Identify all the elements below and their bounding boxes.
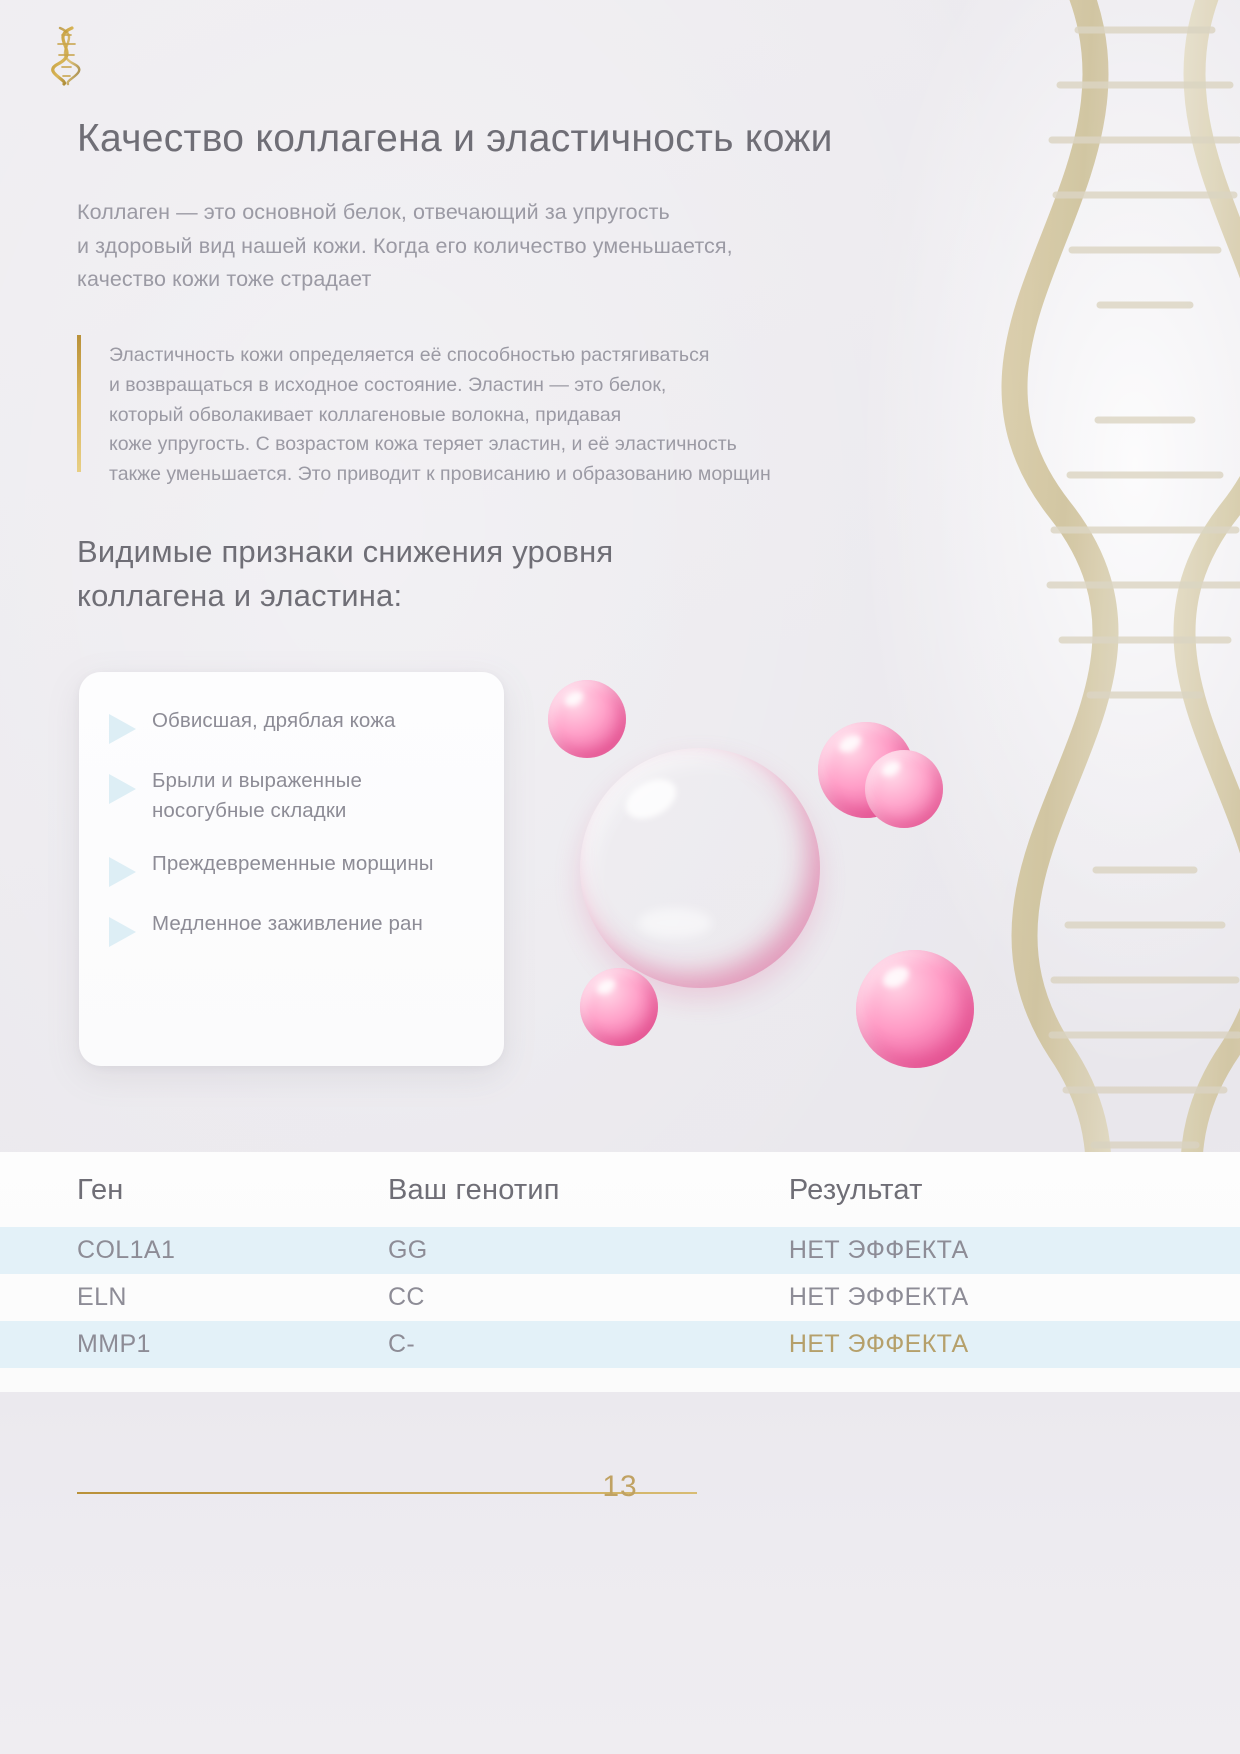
lead-line-3: качество кожи тоже страдает: [77, 267, 371, 291]
signs-card: Обвисшая, дряблая кожа Брыли и выраженны…: [79, 672, 504, 1066]
results-table-body: COL1A1 GG НЕТ ЭФФЕКТА ELN CC НЕТ ЭФФЕКТА…: [0, 1227, 1240, 1368]
list-item-label: Преждевременные морщины: [152, 849, 434, 879]
page-number: 13: [0, 1470, 1240, 1504]
table-row: MMP1 C- НЕТ ЭФФЕКТА: [0, 1321, 1240, 1368]
triangle-bullet-icon: [109, 857, 136, 887]
column-header-genotype: Ваш генотип: [388, 1152, 789, 1227]
cell-genotype: CC: [388, 1274, 789, 1321]
cell-gene: MMP1: [0, 1321, 388, 1368]
cell-genotype: GG: [388, 1227, 789, 1274]
subtitle-line-1: Видимые признаки снижения уровня: [77, 534, 613, 569]
page-title: Качество коллагена и эластичность кожи: [77, 115, 977, 164]
bottom-background: [0, 1392, 1240, 1754]
cell-result: НЕТ ЭФФЕКТА: [789, 1321, 1240, 1368]
results-table-head: Ген Ваш генотип Результат: [0, 1152, 1240, 1227]
column-header-gene: Ген: [0, 1152, 388, 1227]
cell-genotype: C-: [388, 1321, 789, 1368]
triangle-bullet-icon: [109, 774, 136, 804]
table-row: ELN CC НЕТ ЭФФЕКТА: [0, 1274, 1240, 1321]
triangle-bullet-icon: [109, 714, 136, 744]
pink-bubbles-icon: [560, 660, 1030, 1080]
list-item: Брыли и выраженные носогубные складки: [101, 766, 478, 827]
dna-logo-icon: [38, 22, 92, 88]
signs-list: Обвисшая, дряблая кожа Брыли и выраженны…: [79, 672, 504, 947]
report-page: Качество коллагена и эластичность кожи К…: [0, 0, 1240, 1754]
lead-line-2: и здоровый вид нашей кожи. Когда его кол…: [77, 234, 733, 258]
list-item: Медленное заживление ран: [101, 909, 478, 947]
page-footer: 13: [0, 1470, 1240, 1550]
quote-block: Эластичность кожи определяется её способ…: [77, 335, 987, 496]
quote-line-1: Эластичность кожи определяется её способ…: [109, 344, 709, 366]
cell-result: НЕТ ЭФФЕКТА: [789, 1227, 1240, 1274]
results-table: Ген Ваш генотип Результат COL1A1 GG НЕТ …: [0, 1152, 1240, 1368]
quote-accent-rule: [77, 335, 81, 472]
lead-line-1: Коллаген — это основной белок, отвечающи…: [77, 200, 670, 224]
results-table-section: Ген Ваш генотип Результат COL1A1 GG НЕТ …: [0, 1152, 1240, 1392]
list-item-label: Обвисшая, дряблая кожа: [152, 706, 396, 736]
list-item-label: Медленное заживление ран: [152, 909, 423, 939]
cell-result: НЕТ ЭФФЕКТА: [789, 1274, 1240, 1321]
table-row: COL1A1 GG НЕТ ЭФФЕКТА: [0, 1227, 1240, 1274]
quote-line-5: также уменьшается. Это приводит к провис…: [109, 463, 771, 485]
list-item: Преждевременные морщины: [101, 849, 478, 887]
quote-text: Эластичность кожи определяется её способ…: [109, 341, 987, 490]
list-item: Обвисшая, дряблая кожа: [101, 706, 478, 744]
table-header-row: Ген Ваш генотип Результат: [0, 1152, 1240, 1227]
cell-gene: COL1A1: [0, 1227, 388, 1274]
subtitle-line-2: коллагена и эластина:: [77, 578, 402, 613]
column-header-result: Результат: [789, 1152, 1240, 1227]
quote-line-3: который обволакивает коллагеновые волокн…: [109, 404, 621, 426]
list-item-label: Брыли и выраженные носогубные складки: [152, 766, 478, 827]
quote-line-2: и возвращаться в исходное состояние. Эла…: [109, 374, 666, 396]
section-subtitle: Видимые признаки снижения уровня коллаге…: [77, 530, 837, 618]
cell-gene: ELN: [0, 1274, 388, 1321]
lead-paragraph: Коллаген — это основной белок, отвечающи…: [77, 196, 977, 297]
triangle-bullet-icon: [109, 917, 136, 947]
quote-line-4: коже упругость. С возрастом кожа теряет …: [109, 433, 737, 455]
